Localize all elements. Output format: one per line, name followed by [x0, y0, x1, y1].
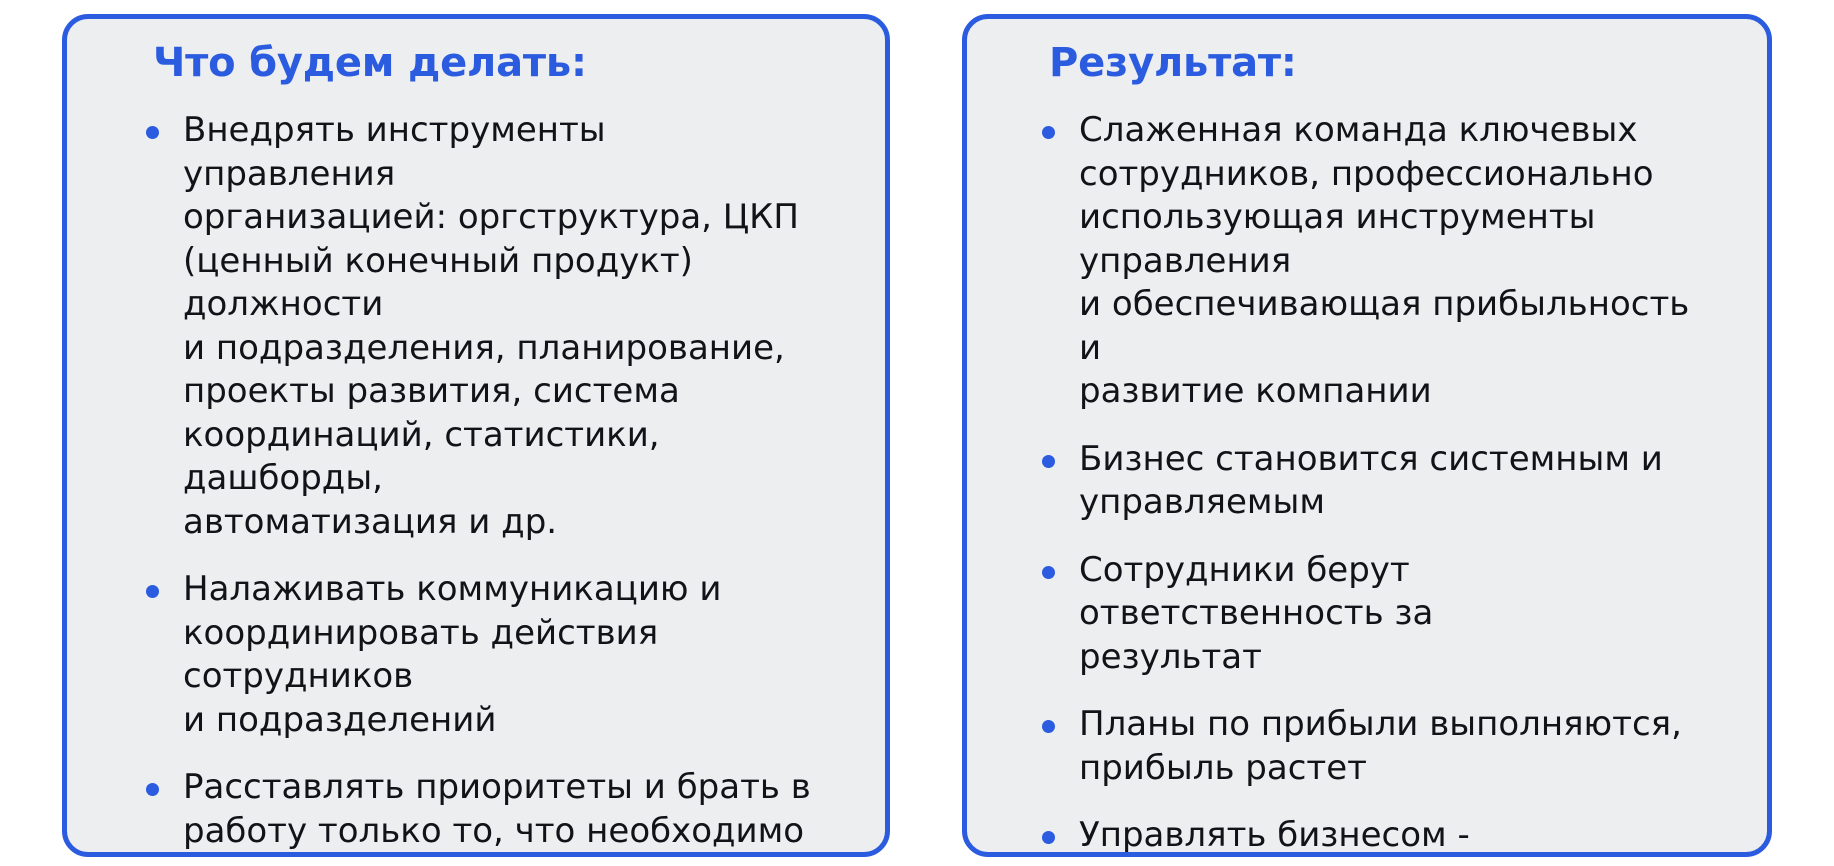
bullet-dot-icon — [1042, 720, 1055, 733]
panel-right-bullet-list: Слаженная команда ключевых сотрудников, … — [1035, 109, 1715, 857]
list-item: Налаживать коммуникацию и координировать… — [139, 568, 819, 742]
bullet-dot-icon — [146, 783, 159, 796]
list-item-text: Сотрудники берут ответственность за резу… — [1079, 549, 1715, 680]
list-item: Расставлять приоритеты и брать в работу … — [139, 766, 819, 857]
list-item: Бизнес становится системным и управляемы… — [1035, 438, 1715, 525]
list-item-text: Налаживать коммуникацию и координировать… — [183, 568, 819, 742]
list-item: Внедрять инструменты управления организа… — [139, 109, 819, 544]
list-item: Слаженная команда ключевых сотрудников, … — [1035, 109, 1715, 414]
panel-right-title: Результат: — [1049, 41, 1767, 85]
list-item-text: Управлять бизнесом - удовольствие — [1079, 814, 1715, 857]
list-item-text: Бизнес становится системным и управляемы… — [1079, 438, 1715, 525]
list-item-text: Слаженная команда ключевых сотрудников, … — [1079, 109, 1715, 414]
bullet-dot-icon — [1042, 126, 1055, 139]
bullet-dot-icon — [146, 585, 159, 598]
panel-group: Что будем делать: Внедрять инструменты у… — [0, 0, 1834, 866]
panel-right-inner: Результат: Слаженная команда ключевых со… — [967, 41, 1767, 857]
bullet-dot-icon — [1042, 831, 1055, 844]
list-item: Управлять бизнесом - удовольствие — [1035, 814, 1715, 857]
list-item-text: Планы по прибыли выполняются, прибыль ра… — [1079, 703, 1715, 790]
panel-left-bullet-list: Внедрять инструменты управления организа… — [139, 109, 819, 857]
bullet-dot-icon — [1042, 566, 1055, 579]
list-item-text: Внедрять инструменты управления организа… — [183, 109, 819, 544]
panel-left-title: Что будем делать: — [153, 41, 885, 85]
bullet-dot-icon — [146, 126, 159, 139]
list-item: Планы по прибыли выполняются, прибыль ра… — [1035, 703, 1715, 790]
bullet-dot-icon — [1042, 455, 1055, 468]
slide-root: Что будем делать: Внедрять инструменты у… — [0, 0, 1834, 866]
list-item-text: Расставлять приоритеты и брать в работу … — [183, 766, 819, 857]
panel-left-inner: Что будем делать: Внедрять инструменты у… — [67, 41, 885, 857]
panel-what-we-will-do: Что будем делать: Внедрять инструменты у… — [62, 14, 890, 857]
list-item: Сотрудники берут ответственность за резу… — [1035, 549, 1715, 680]
panel-result: Результат: Слаженная команда ключевых со… — [962, 14, 1772, 857]
